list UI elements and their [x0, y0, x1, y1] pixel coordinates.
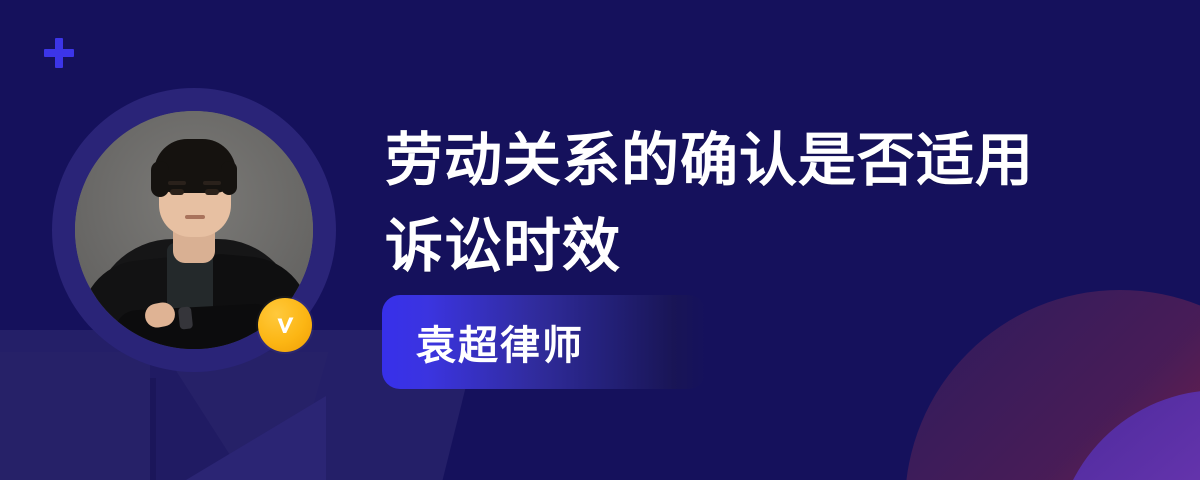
page-title: 劳动关系的确认是否适用 诉讼时效 — [385, 118, 1145, 290]
decorative-seam — [150, 378, 156, 480]
lawyer-name-button[interactable]: 袁超律师 — [382, 295, 706, 389]
lawyer-topic-banner: 劳动关系的确认是否适用 诉讼时效 袁超律师 — [0, 0, 1200, 480]
decorative-triangle-bottom — [186, 396, 326, 480]
verified-badge-icon — [258, 298, 312, 352]
headline-block: 劳动关系的确认是否适用 诉讼时效 — [385, 118, 1145, 290]
plus-icon — [44, 38, 74, 68]
